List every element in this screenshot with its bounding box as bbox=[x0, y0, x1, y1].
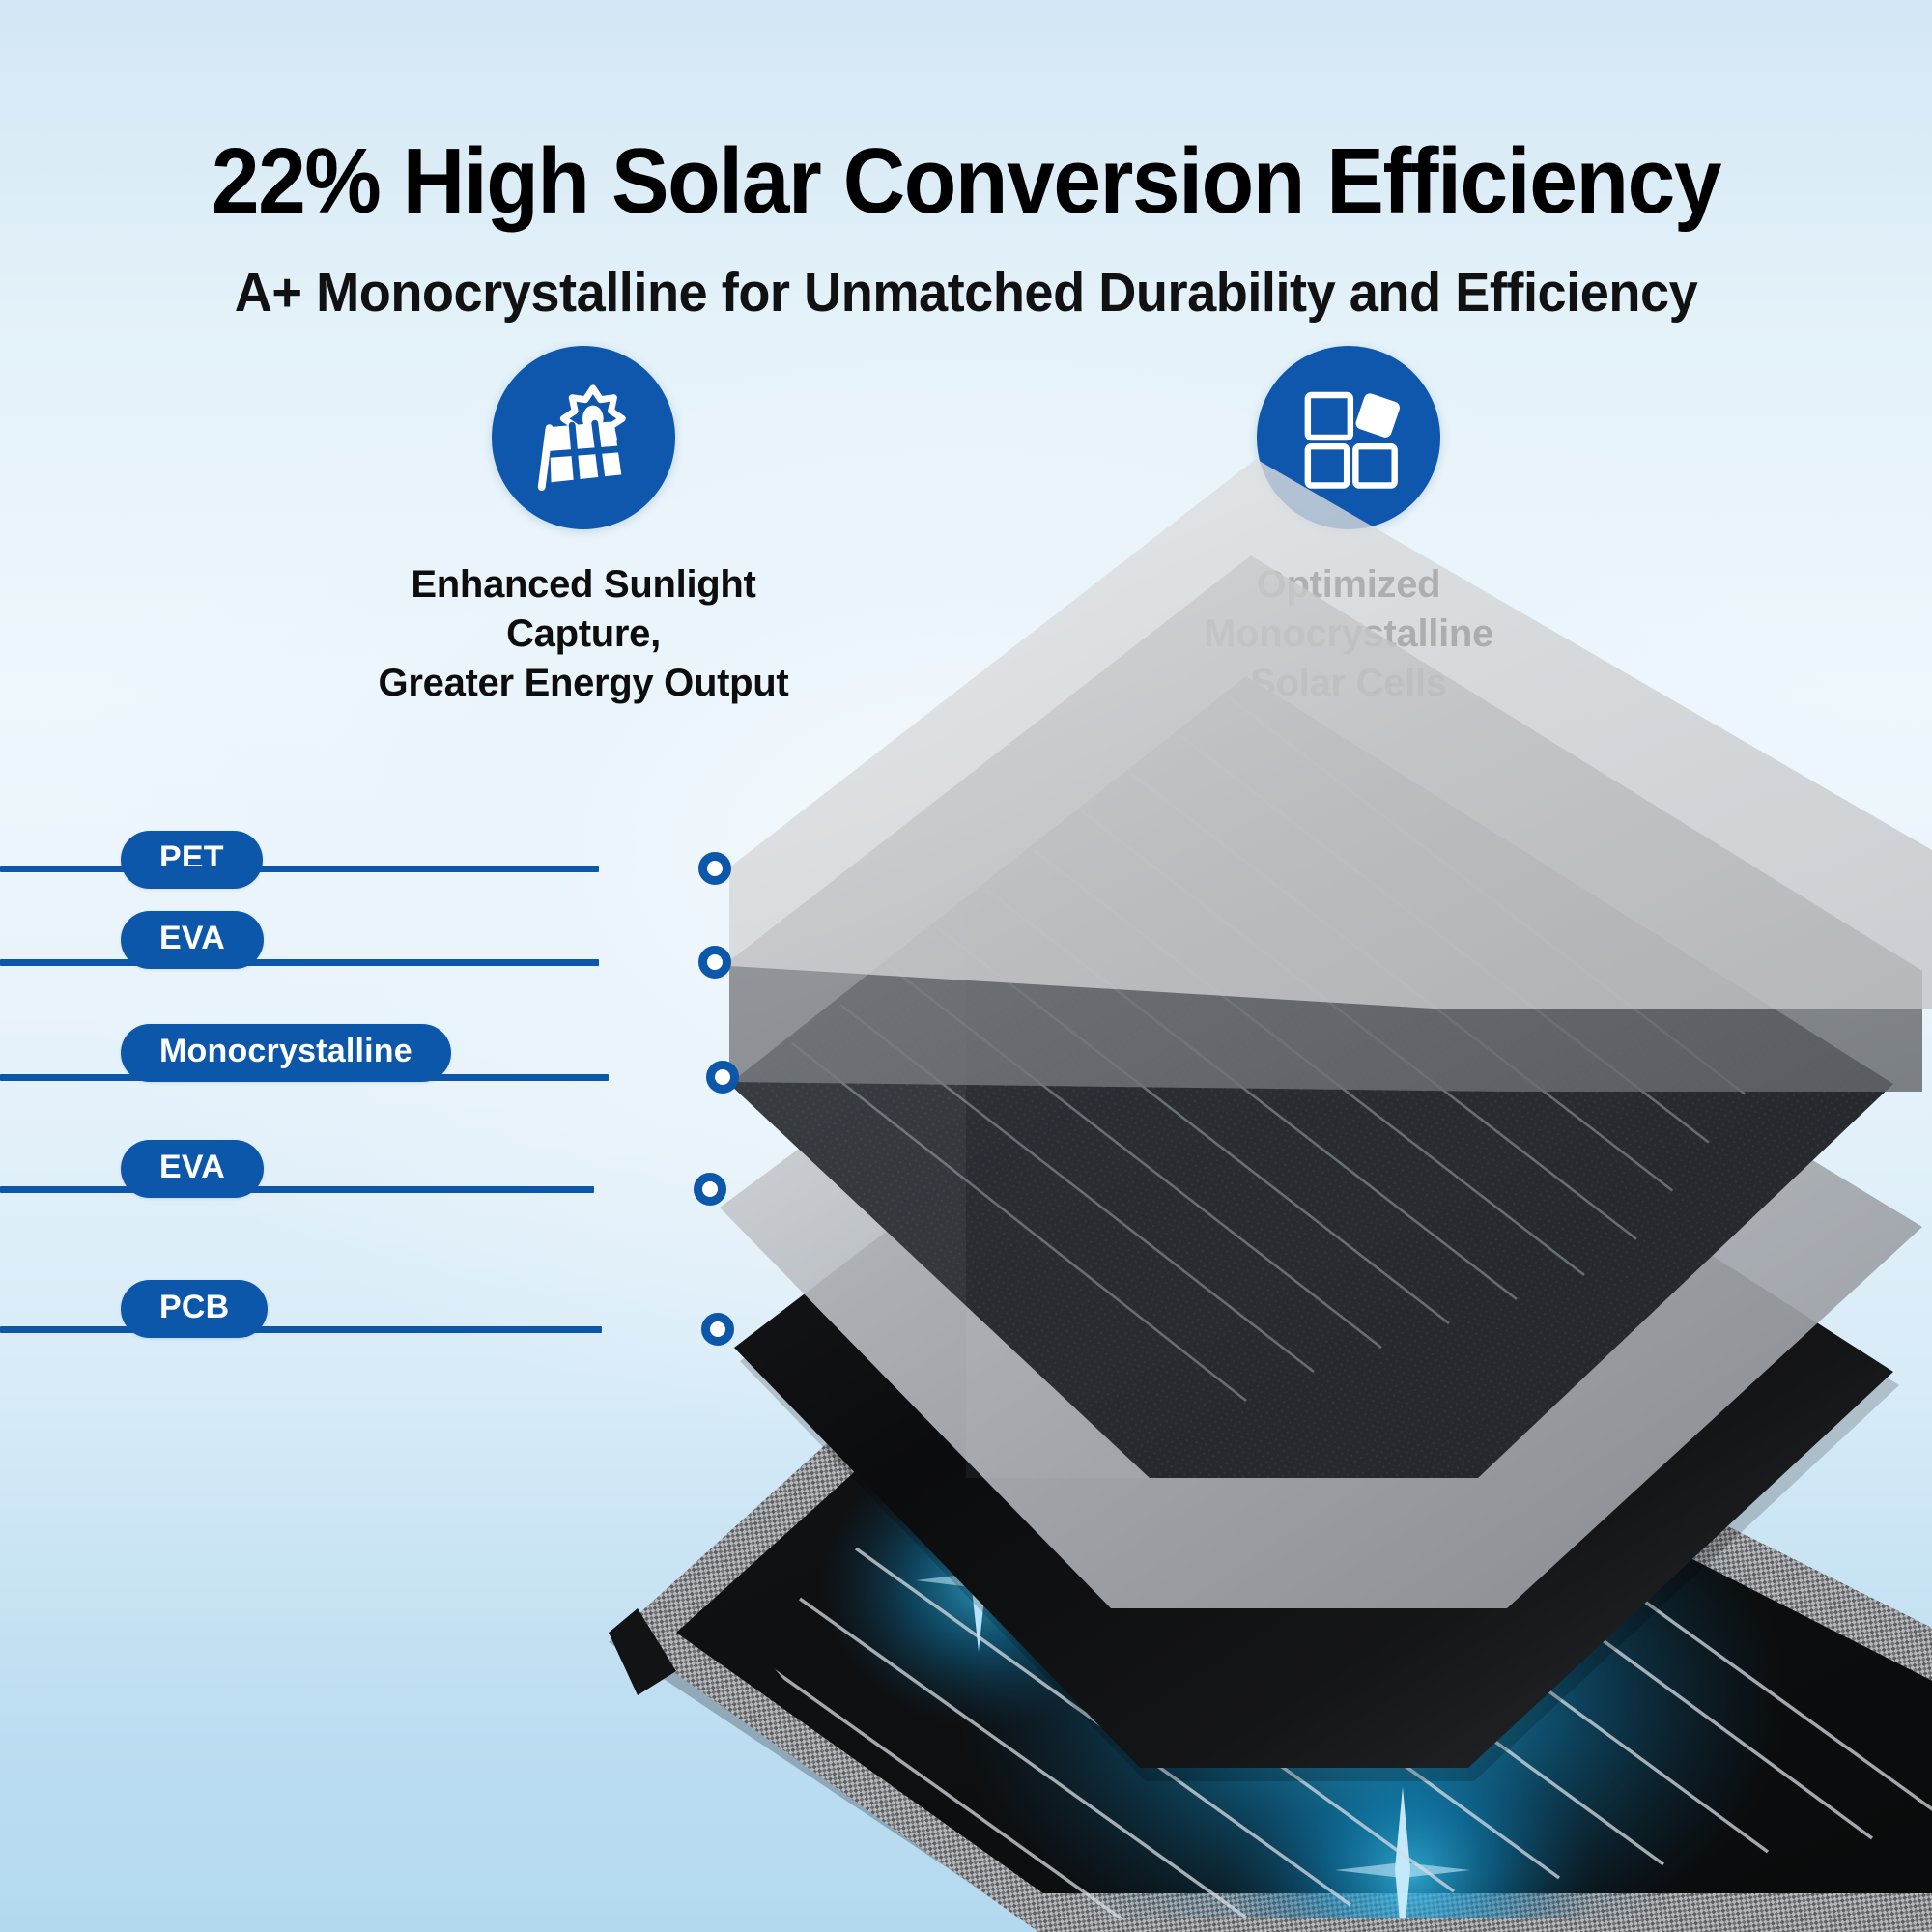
layer-label-monocrystalline[interactable]: Monocrystalline bbox=[121, 1024, 451, 1082]
callout-rule-pet bbox=[0, 866, 599, 872]
callout-dot-eva-lower bbox=[694, 1173, 726, 1206]
callout-dot-eva-upper bbox=[698, 946, 731, 979]
infographic-canvas: 22% High Solar Conversion Efficiency A+ … bbox=[0, 0, 1932, 1932]
callout-rule-monocrystalline bbox=[0, 1074, 609, 1081]
callout-pet: PET bbox=[121, 831, 263, 889]
callout-dot-monocrystalline bbox=[706, 1061, 739, 1094]
callout-rule-eva-upper bbox=[0, 959, 599, 966]
callout-rule-pcb bbox=[0, 1326, 602, 1333]
callout-dot-pcb bbox=[701, 1313, 734, 1346]
layer-callouts: PET EVA Monocrystalline EVA PCB bbox=[0, 0, 1932, 1932]
layer-label-pet[interactable]: PET bbox=[121, 831, 263, 889]
callout-monocrystalline: Monocrystalline bbox=[121, 1024, 451, 1082]
callout-rule-eva-lower bbox=[0, 1186, 594, 1193]
callout-dot-pet bbox=[698, 852, 731, 885]
